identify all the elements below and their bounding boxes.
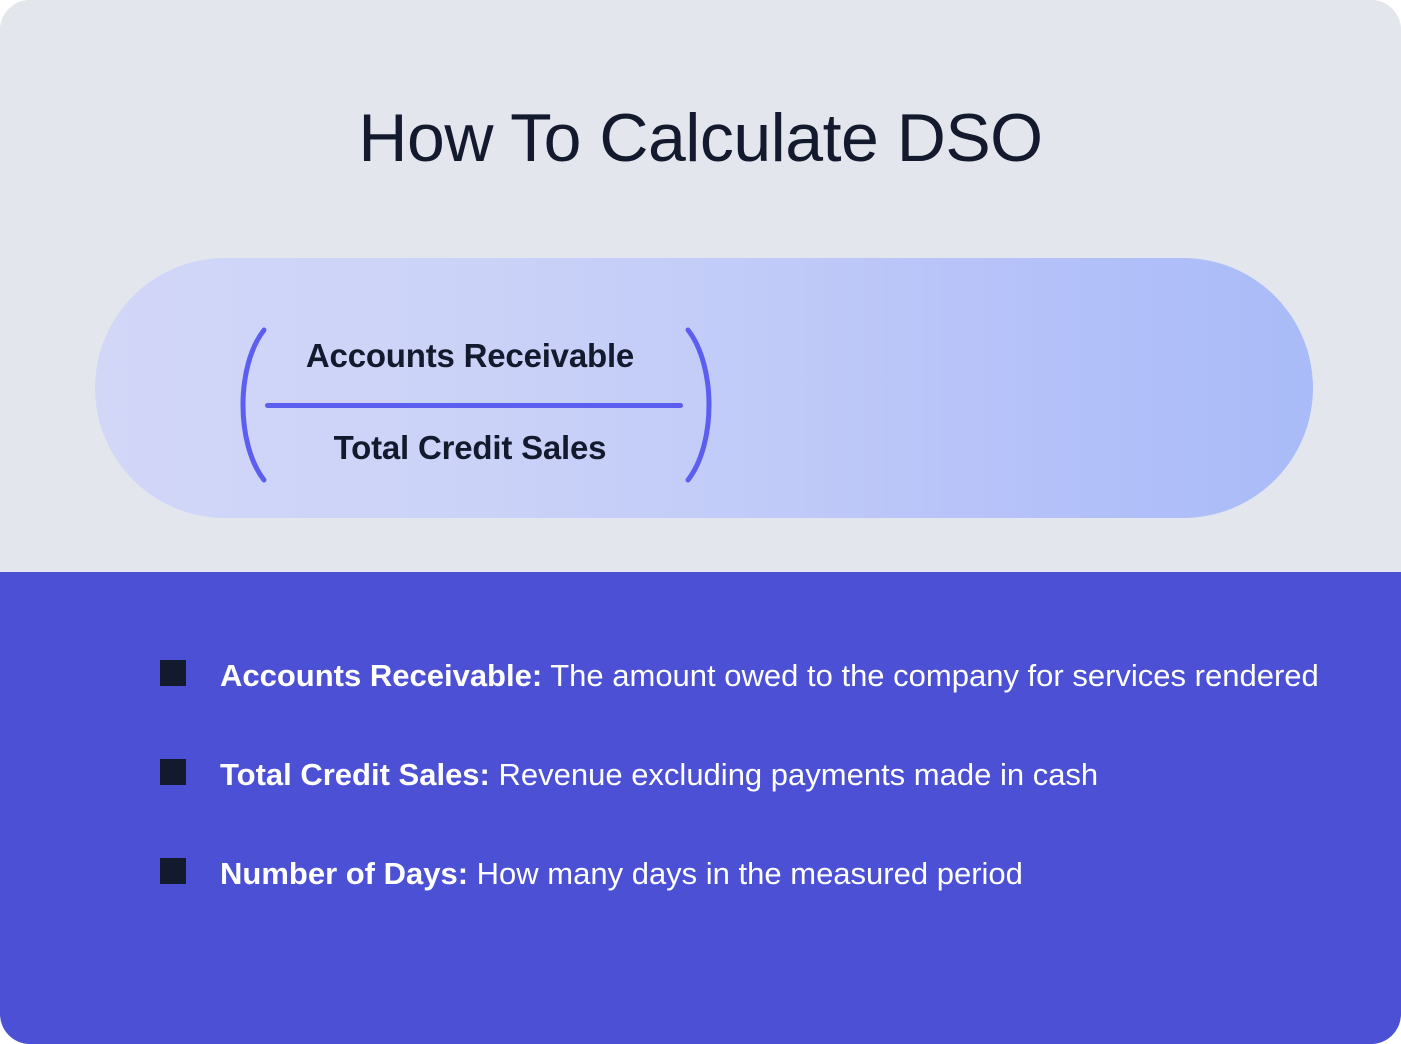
fraction-group: Accounts Receivable Total Credit Sales [160, 278, 720, 498]
fraction-bar [265, 403, 683, 408]
square-bullet-icon [160, 858, 186, 884]
square-bullet-icon [160, 759, 186, 785]
definition-text: Number of Days: How many days in the mea… [220, 848, 1023, 899]
fraction-numerator: Accounts Receivable [260, 337, 680, 375]
title-and-formula-panel: How To Calculate DSO Accounts Receivable… [0, 0, 1401, 572]
definition-text: Accounts Receivable: The amount owed to … [220, 650, 1319, 701]
definition-list: Accounts Receivable: The amount owed to … [160, 650, 1340, 899]
formula-pill: Accounts Receivable Total Credit Sales N… [95, 258, 1313, 518]
definition-description: How many days in the measured period [468, 856, 1023, 891]
list-item: Number of Days: How many days in the mea… [160, 848, 1340, 899]
definitions-panel: Accounts Receivable: The amount owed to … [0, 572, 1401, 1044]
list-item: Accounts Receivable: The amount owed to … [160, 650, 1340, 701]
page-title: How To Calculate DSO [0, 104, 1401, 172]
definition-term: Number of Days: [220, 856, 468, 891]
square-bullet-icon [160, 660, 186, 686]
definition-term: Accounts Receivable: [220, 658, 542, 693]
definition-text: Total Credit Sales: Revenue excluding pa… [220, 749, 1098, 800]
definition-description: The amount owed to the company for servi… [542, 658, 1319, 693]
definition-term: Total Credit Sales: [220, 757, 490, 792]
close-parenthesis-icon [680, 326, 726, 484]
fraction-denominator: Total Credit Sales [260, 429, 680, 467]
infographic-card: How To Calculate DSO Accounts Receivable… [0, 0, 1401, 1044]
definition-description: Revenue excluding payments made in cash [490, 757, 1098, 792]
list-item: Total Credit Sales: Revenue excluding pa… [160, 749, 1340, 800]
